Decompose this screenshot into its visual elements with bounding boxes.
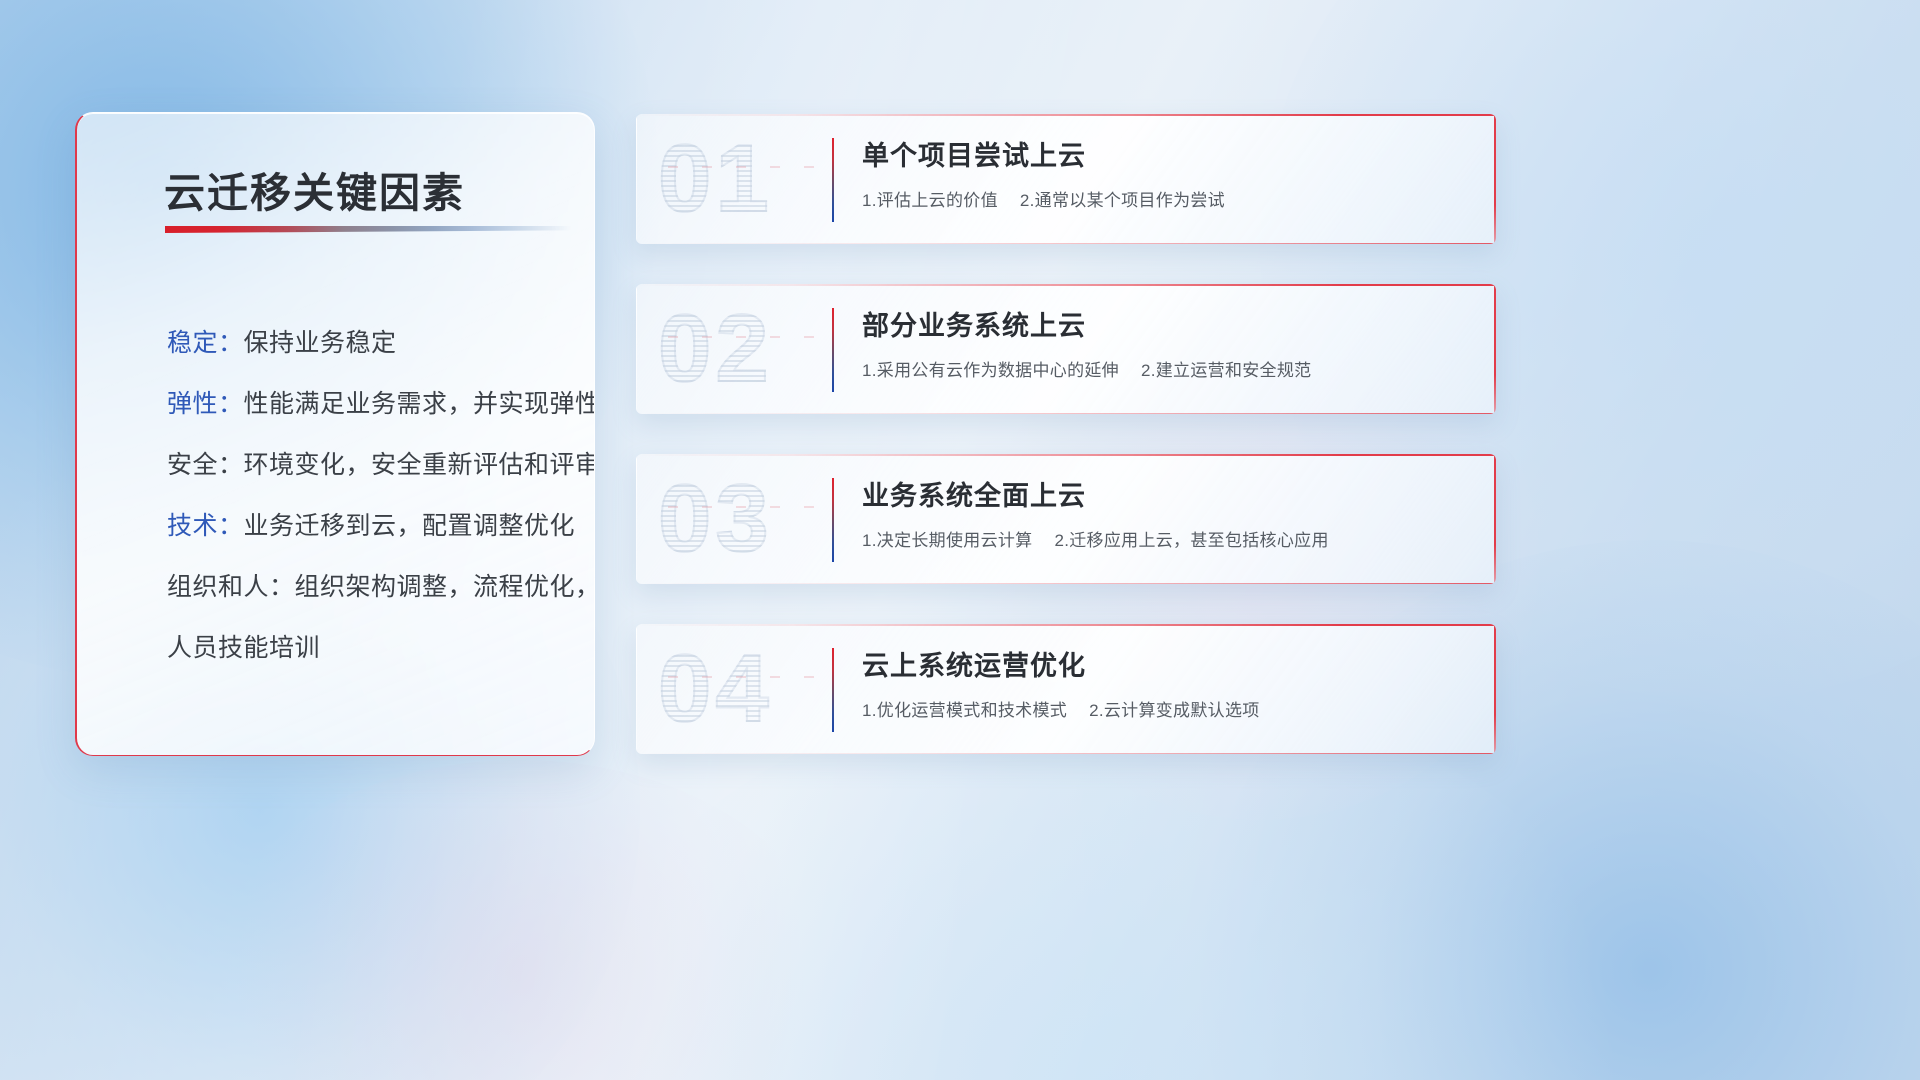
card-step-number: 03	[658, 460, 838, 578]
factor-label: 组织和人：	[167, 573, 295, 601]
card-divider-bar	[832, 138, 834, 222]
stage-card[interactable]: 04云上系统运营优化1.优化运营模式和技术模式2.云计算变成默认选项	[636, 624, 1496, 754]
page-title: 云迁移关键因素	[164, 159, 465, 219]
factor-row: 组织和人：组织架构调整，流程优化，	[167, 557, 574, 618]
factor-label: 弹性：	[167, 390, 244, 418]
card-point: 1.评估上云的价值	[862, 191, 998, 210]
card-left-hl-accent	[636, 284, 637, 414]
card-number-tick-overlay	[668, 336, 818, 338]
card-point: 2.云计算变成默认选项	[1089, 701, 1259, 720]
card-step-number: 04	[658, 630, 838, 748]
factor-row: 弹性：性能满足业务需求，并实现弹性	[167, 374, 574, 435]
card-top-accent	[636, 284, 1496, 286]
card-top-accent	[636, 624, 1496, 626]
card-point: 2.迁移应用上云，甚至包括核心应用	[1054, 531, 1328, 550]
card-number-tick-overlay	[668, 166, 818, 168]
factor-label: 技术：	[167, 512, 244, 540]
card-body: 业务系统全面上云1.决定长期使用云计算2.迁移应用上云，甚至包括核心应用	[862, 476, 1472, 551]
card-subtitle: 1.评估上云的价值2.通常以某个项目作为尝试	[862, 186, 1472, 211]
card-left-hl-accent	[636, 624, 637, 754]
card-right-accent	[1494, 114, 1496, 244]
card-title: 云上系统运营优化	[862, 646, 1472, 686]
card-bottom-accent	[636, 243, 1496, 245]
card-point: 2.通常以某个项目作为尝试	[1020, 191, 1225, 210]
card-point: 1.优化运营模式和技术模式	[862, 701, 1067, 720]
card-number-tick-overlay	[668, 506, 818, 508]
card-divider-bar	[832, 478, 834, 562]
factor-row: 人员技能培训	[167, 618, 574, 679]
card-left-hl-accent	[636, 454, 637, 584]
factor-text: 性能满足业务需求，并实现弹性	[244, 390, 595, 418]
card-point: 1.决定长期使用云计算	[862, 531, 1032, 550]
card-bottom-accent	[636, 583, 1496, 585]
factor-row: 稳定：保持业务稳定	[167, 313, 574, 374]
card-point: 1.采用公有云作为数据中心的延伸	[862, 361, 1119, 380]
factor-text: 人员技能培训	[167, 634, 320, 662]
card-step-number: 01	[658, 120, 838, 238]
factor-label: 稳定：	[167, 329, 244, 357]
factor-row: 安全：环境变化，安全重新评估和评审	[167, 435, 574, 496]
card-title: 部分业务系统上云	[862, 306, 1472, 346]
card-number-tick-overlay	[668, 676, 818, 678]
card-divider-bar	[832, 648, 834, 732]
card-title: 业务系统全面上云	[862, 476, 1472, 516]
factor-text: 保持业务稳定	[244, 329, 397, 357]
title-underline-rule	[165, 226, 571, 233]
stage-card[interactable]: 02部分业务系统上云1.采用公有云作为数据中心的延伸2.建立运营和安全规范	[636, 284, 1496, 414]
key-factors-panel: 云迁移关键因素 稳定：保持业务稳定弹性：性能满足业务需求，并实现弹性安全：环境变…	[75, 112, 595, 756]
card-right-accent	[1494, 454, 1496, 584]
factor-label: 安全：	[167, 451, 244, 479]
card-title: 单个项目尝试上云	[862, 136, 1472, 176]
card-divider-bar	[832, 308, 834, 392]
slide-stage: 云迁移关键因素 稳定：保持业务稳定弹性：性能满足业务需求，并实现弹性安全：环境变…	[0, 0, 1920, 1080]
factor-text: 业务迁移到云，配置调整优化	[244, 512, 576, 540]
factor-row: 技术：业务迁移到云，配置调整优化	[167, 496, 574, 557]
card-body: 部分业务系统上云1.采用公有云作为数据中心的延伸2.建立运营和安全规范	[862, 306, 1472, 381]
card-subtitle: 1.采用公有云作为数据中心的延伸2.建立运营和安全规范	[862, 356, 1472, 381]
card-bottom-accent	[636, 753, 1496, 755]
card-bottom-accent	[636, 413, 1496, 415]
stage-card[interactable]: 01单个项目尝试上云1.评估上云的价值2.通常以某个项目作为尝试	[636, 114, 1496, 244]
card-step-number: 02	[658, 290, 838, 408]
card-subtitle: 1.决定长期使用云计算2.迁移应用上云，甚至包括核心应用	[862, 526, 1472, 551]
stage-card[interactable]: 03业务系统全面上云1.决定长期使用云计算2.迁移应用上云，甚至包括核心应用	[636, 454, 1496, 584]
card-subtitle: 1.优化运营模式和技术模式2.云计算变成默认选项	[862, 696, 1472, 721]
stage-card-list: 01单个项目尝试上云1.评估上云的价值2.通常以某个项目作为尝试02部分业务系统…	[636, 114, 1496, 794]
card-left-hl-accent	[636, 114, 637, 244]
factor-text: 组织架构调整，流程优化，	[295, 573, 595, 601]
factor-list: 稳定：保持业务稳定弹性：性能满足业务需求，并实现弹性安全：环境变化，安全重新评估…	[167, 313, 574, 679]
card-point: 2.建立运营和安全规范	[1141, 361, 1311, 380]
card-body: 单个项目尝试上云1.评估上云的价值2.通常以某个项目作为尝试	[862, 136, 1472, 211]
factor-text: 环境变化，安全重新评估和评审	[244, 451, 595, 479]
card-body: 云上系统运营优化1.优化运营模式和技术模式2.云计算变成默认选项	[862, 646, 1472, 721]
card-top-accent	[636, 454, 1496, 456]
card-top-accent	[636, 114, 1496, 116]
card-right-accent	[1494, 284, 1496, 414]
card-right-accent	[1494, 624, 1496, 754]
